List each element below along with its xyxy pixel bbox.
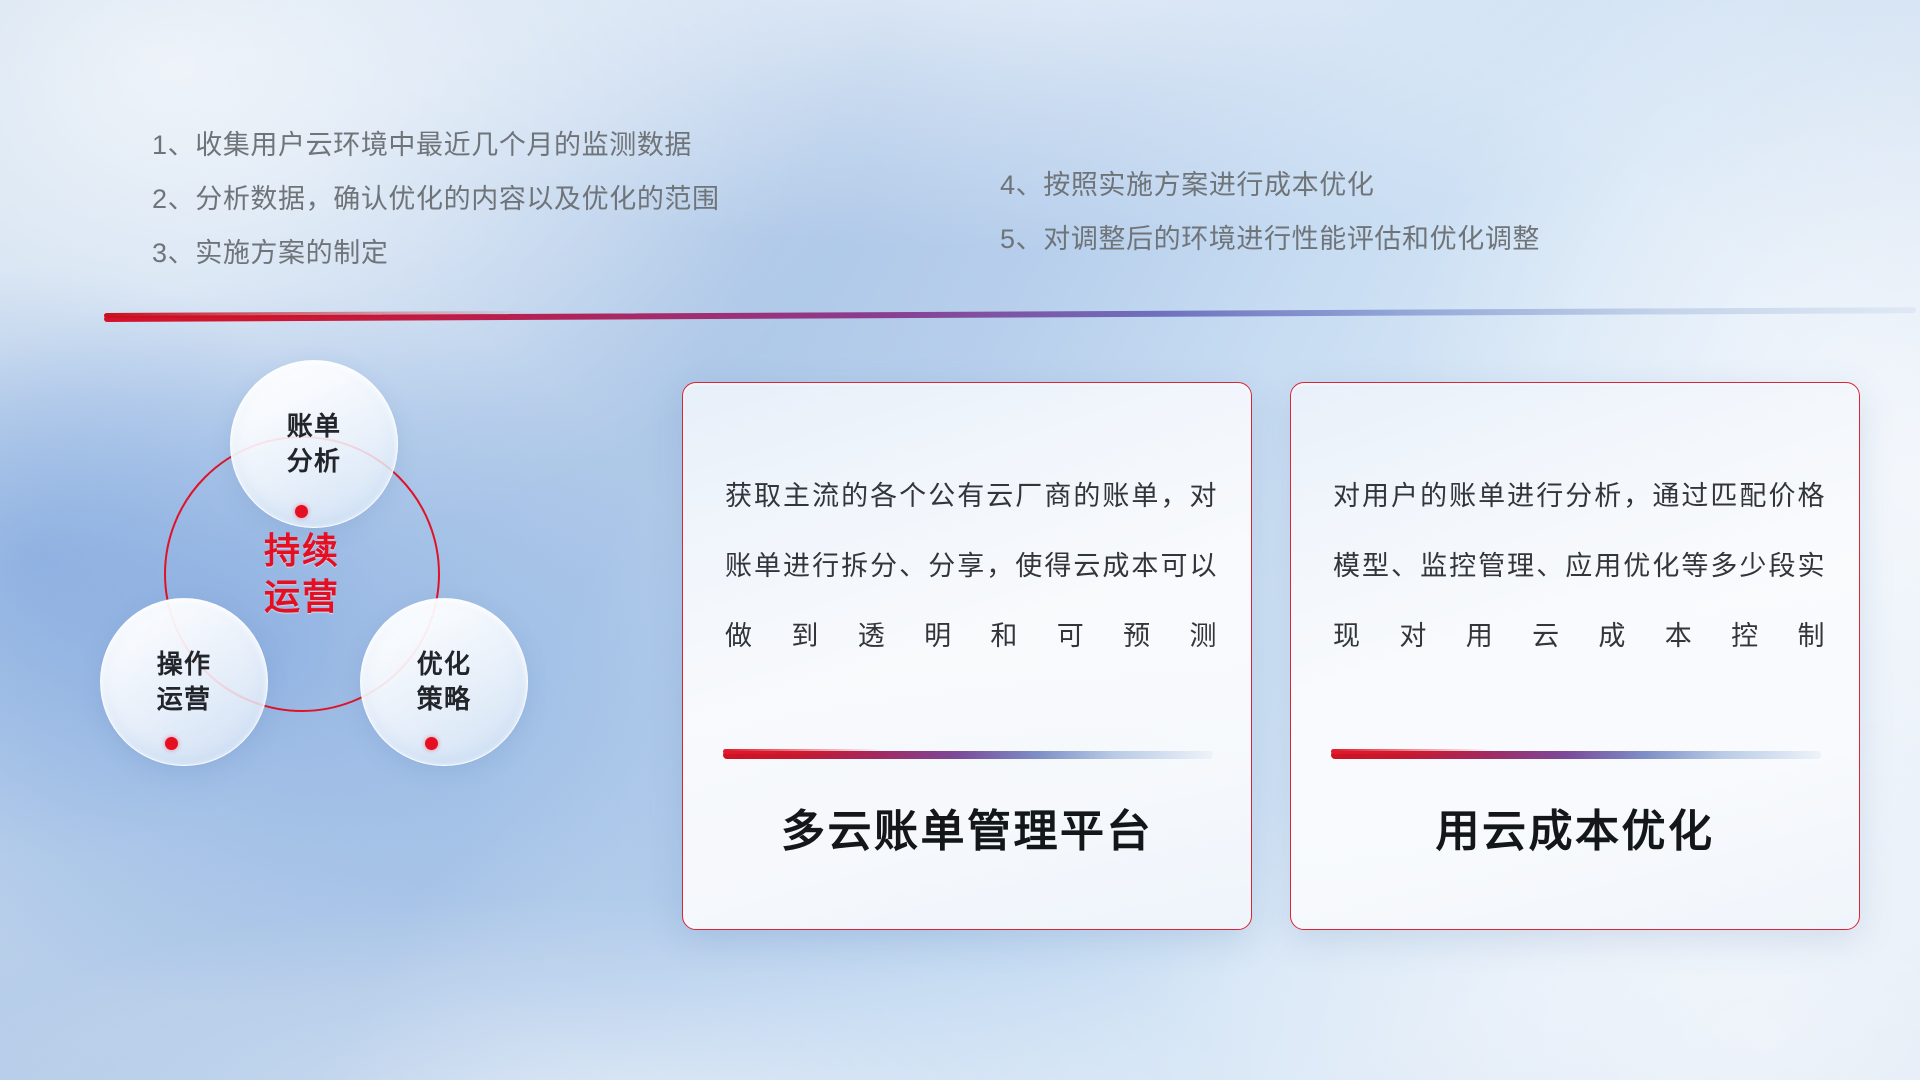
card-accent-rule bbox=[1331, 751, 1821, 759]
step-item-3: 3、实施方案的制定 bbox=[152, 226, 720, 280]
card-title: 多云账单管理平台 bbox=[683, 795, 1251, 859]
step-item-1: 1、收集用户云环境中最近几个月的监测数据 bbox=[152, 118, 720, 172]
venn-diagram: 账单 分析 操作 运营 优化 策略 持续 运营 bbox=[96, 360, 616, 920]
card-body-text: 对用户的账单进行分析，通过匹配价格模型、监控管理、应用优化等多少段实现对用云成本… bbox=[1333, 461, 1825, 671]
card-title: 用云成本优化 bbox=[1291, 795, 1859, 859]
card-accent-rule bbox=[723, 751, 1213, 759]
card-multicloud-billing-platform[interactable]: 获取主流的各个公有云厂商的账单，对账单进行拆分、分享，使得云成本可以做到透明和可… bbox=[682, 382, 1252, 930]
card-body-text: 获取主流的各个公有云厂商的账单，对账单进行拆分、分享，使得云成本可以做到透明和可… bbox=[725, 461, 1217, 671]
venn-node-dot-right bbox=[425, 737, 438, 750]
steps-right-column: 4、按照实施方案进行成本优化 5、对调整后的环境进行性能评估和优化调整 bbox=[1000, 158, 1540, 266]
step-item-5: 5、对调整后的环境进行性能评估和优化调整 bbox=[1000, 212, 1540, 266]
venn-node-dot-top bbox=[295, 505, 308, 518]
venn-node-dot-left bbox=[165, 737, 178, 750]
step-item-2: 2、分析数据，确认优化的内容以及优化的范围 bbox=[152, 172, 720, 226]
steps-left-column: 1、收集用户云环境中最近几个月的监测数据 2、分析数据，确认优化的内容以及优化的… bbox=[152, 118, 720, 280]
card-cloud-cost-optimization[interactable]: 对用户的账单进行分析，通过匹配价格模型、监控管理、应用优化等多少段实现对用云成本… bbox=[1290, 382, 1860, 930]
step-item-4: 4、按照实施方案进行成本优化 bbox=[1000, 158, 1540, 212]
venn-center-line-1: 持续 bbox=[264, 528, 340, 574]
venn-center-label: 持续 运营 bbox=[164, 436, 440, 712]
venn-center-line-2: 运营 bbox=[264, 574, 340, 620]
